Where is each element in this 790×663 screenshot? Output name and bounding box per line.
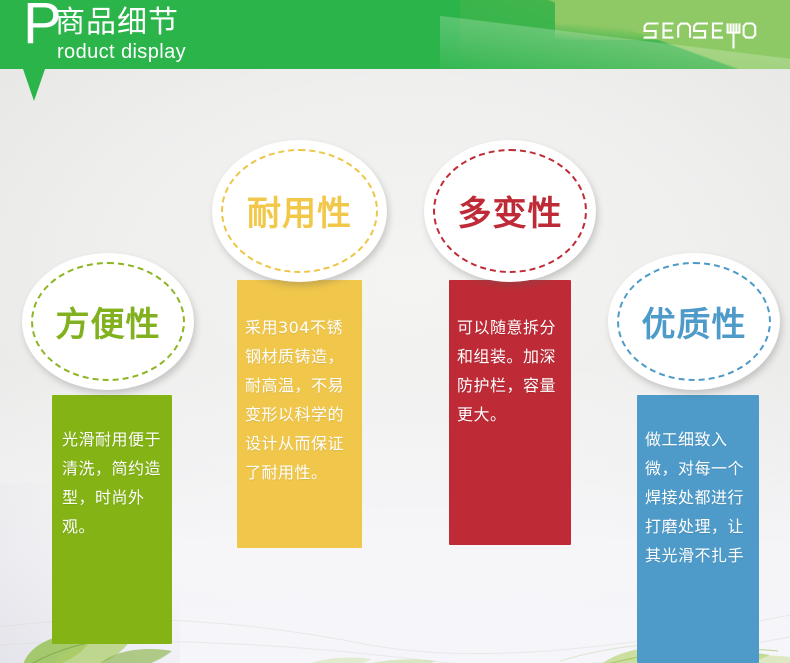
page-title: 商品细节 (55, 6, 179, 40)
feature-circle-convenience: 方便性 (22, 253, 194, 390)
sensewo-logo-icon (642, 16, 768, 52)
brand-logo (642, 16, 768, 50)
feature-title-convenience: 方便性 (22, 297, 194, 346)
feature-body-durability: 采用304不锈钢材质铸造，耐高温，不易变形以科学的设计从而保证了耐用性。 (245, 313, 355, 487)
feature-circle-durability: 耐用性 (212, 140, 387, 282)
page-header: P 商品细节 roduct display (0, 0, 790, 69)
feature-title-versatility: 多变性 (424, 186, 596, 235)
feature-title-quality: 优质性 (608, 297, 780, 346)
page-subtitle: roduct display (57, 41, 186, 63)
feature-circle-versatility: 多变性 (424, 140, 596, 282)
feature-title-durability: 耐用性 (212, 186, 387, 235)
feature-circle-quality: 优质性 (608, 253, 780, 390)
header-pointer-arrow (23, 69, 45, 101)
product-display-banner: P 商品细节 roduct display (0, 0, 790, 663)
feature-body-convenience: 光滑耐用便于清洗，简约造型，时尚外观。 (62, 425, 166, 541)
feature-body-quality: 做工细致入微，对每一个焊接处都进行打磨处理，让其光滑不扎手 (645, 425, 753, 570)
feature-body-versatility: 可以随意拆分和组装。加深防护栏，容量更大。 (457, 313, 565, 429)
